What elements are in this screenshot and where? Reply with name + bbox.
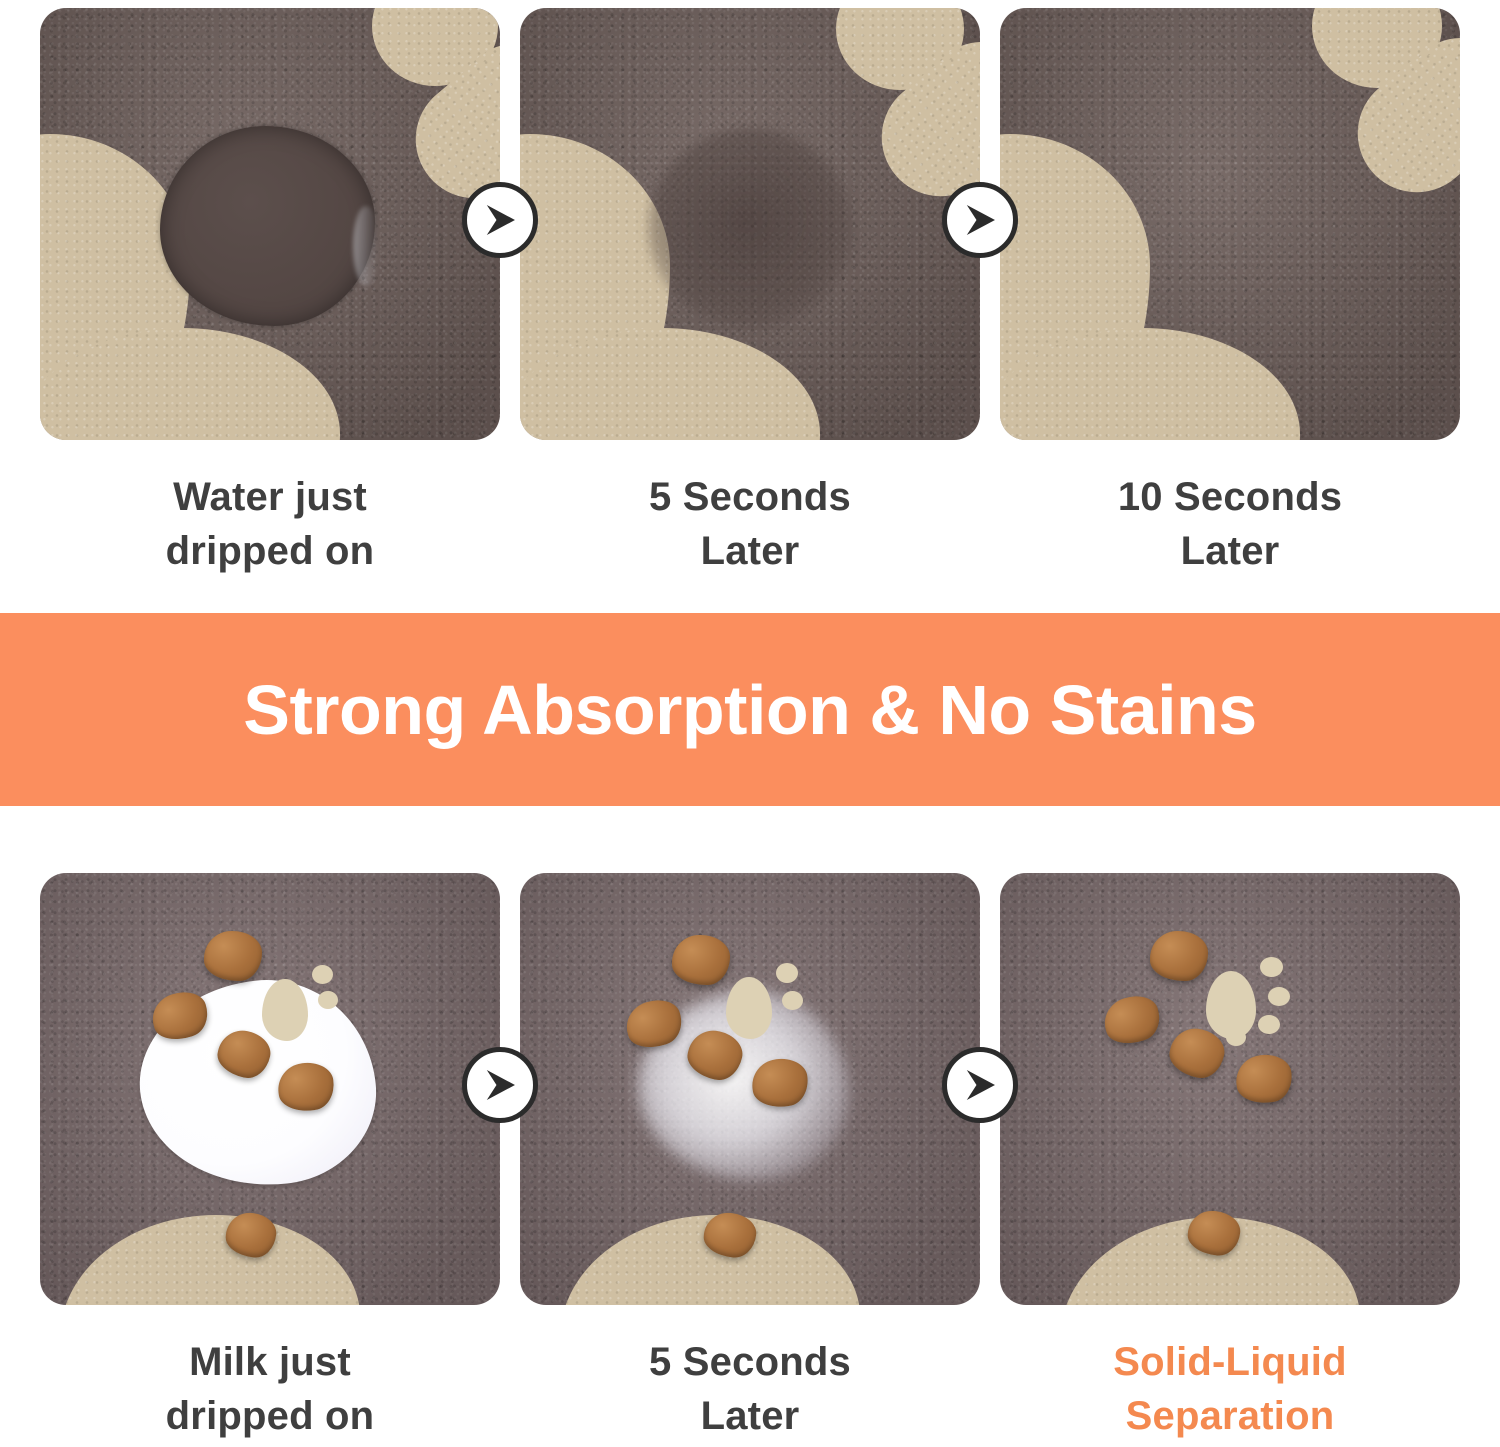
chevron-right-icon (942, 182, 1018, 258)
paw-toe (318, 991, 338, 1009)
caption-line: Later (520, 1389, 980, 1443)
kibble-piece (204, 931, 262, 981)
caption-water-just-dripped-on: Water just dripped on (40, 470, 500, 578)
caption-5-seconds-later-water: 5 Seconds Later (520, 470, 980, 578)
caption-line: Later (1000, 524, 1460, 578)
product-infographic: Water just dripped on 5 Seconds Later 10… (0, 0, 1500, 1447)
paw-toe (1260, 957, 1283, 977)
water-stain-damp (648, 128, 853, 328)
milk-test-caption-row: Milk just dripped on 5 Seconds Later Sol… (0, 1335, 1500, 1443)
kibble-piece (1150, 931, 1208, 981)
caption-line: Milk just (40, 1335, 500, 1389)
chevron-right-icon (942, 1047, 1018, 1123)
paw-toe (776, 963, 798, 983)
paw-main-pad (262, 979, 308, 1041)
water-stain-wet (160, 126, 375, 326)
water-test-tile-3 (1000, 8, 1460, 440)
caption-line: 5 Seconds (520, 470, 980, 524)
headline-banner: Strong Absorption & No Stains (0, 613, 1500, 806)
caption-5-seconds-later-milk: 5 Seconds Later (520, 1335, 980, 1443)
caption-line: Separation (1000, 1389, 1460, 1443)
paw-toe (1268, 987, 1290, 1006)
milk-test-tile-1 (40, 873, 500, 1305)
milk-test-tile-3 (1000, 873, 1460, 1305)
caption-line: dripped on (40, 524, 500, 578)
headline-text: Strong Absorption & No Stains (243, 670, 1256, 750)
paw-toe (1226, 1029, 1246, 1046)
caption-10-seconds-later-water: 10 Seconds Later (1000, 470, 1460, 578)
water-test-image-row (0, 8, 1500, 440)
caption-milk-just-dripped-on: Milk just dripped on (40, 1335, 500, 1443)
water-test-tile-1 (40, 8, 500, 440)
chevron-right-icon (462, 1047, 538, 1123)
water-test-tile-2 (520, 8, 980, 440)
caption-line: Solid-Liquid (1000, 1335, 1460, 1389)
milk-test-image-row (0, 873, 1500, 1305)
caption-line: Later (520, 524, 980, 578)
caption-line: dripped on (40, 1389, 500, 1443)
caption-solid-liquid-separation: Solid-Liquid Separation (1000, 1335, 1460, 1443)
kibble-piece (672, 935, 730, 985)
paw-toe (312, 965, 333, 984)
milk-test-tile-2 (520, 873, 980, 1305)
water-test-caption-row: Water just dripped on 5 Seconds Later 10… (0, 470, 1500, 578)
caption-line: Water just (40, 470, 500, 524)
caption-line: 10 Seconds (1000, 470, 1460, 524)
paw-toe (1258, 1015, 1280, 1034)
paw-main-pad (726, 977, 772, 1039)
chevron-right-icon (462, 182, 538, 258)
caption-line: 5 Seconds (520, 1335, 980, 1389)
paw-toe (782, 991, 803, 1010)
